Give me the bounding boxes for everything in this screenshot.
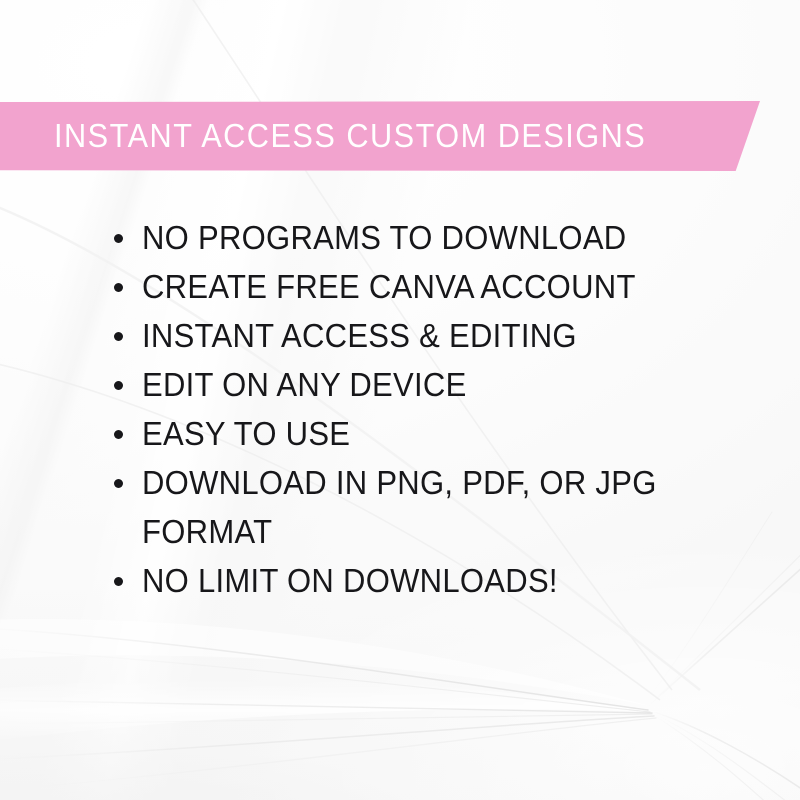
- list-item: CREATE FREE CANVA ACCOUNT: [112, 262, 732, 311]
- page-title: INSTANT ACCESS CUSTOM DESIGNS: [54, 119, 646, 154]
- bullet-dot-icon: [114, 381, 123, 390]
- list-item-label: INSTANT ACCESS & EDITING: [142, 311, 577, 360]
- list-item: NO PROGRAMS TO DOWNLOAD: [112, 213, 732, 262]
- list-item-label: DOWNLOAD IN PNG, PDF, OR JPG FORMAT: [142, 458, 697, 556]
- list-item: EASY TO USE: [112, 409, 732, 458]
- list-item: EDIT ON ANY DEVICE: [112, 360, 732, 409]
- list-item-label: NO PROGRAMS TO DOWNLOAD: [142, 213, 626, 262]
- header-banner: INSTANT ACCESS CUSTOM DESIGNS: [0, 101, 760, 171]
- bullet-dot-icon: [114, 577, 123, 586]
- list-item-label: CREATE FREE CANVA ACCOUNT: [142, 262, 636, 311]
- bullet-dot-icon: [114, 479, 123, 488]
- list-item-label: NO LIMIT ON DOWNLOADS!: [142, 556, 558, 605]
- list-item-label: EASY TO USE: [142, 409, 350, 458]
- feature-list: NO PROGRAMS TO DOWNLOAD CREATE FREE CANV…: [112, 213, 732, 605]
- graphic-canvas: INSTANT ACCESS CUSTOM DESIGNS NO PROGRAM…: [0, 0, 800, 800]
- list-item-label: EDIT ON ANY DEVICE: [142, 360, 467, 409]
- list-item: DOWNLOAD IN PNG, PDF, OR JPG FORMAT: [112, 458, 732, 556]
- list-item: INSTANT ACCESS & EDITING: [112, 311, 732, 360]
- bullet-dot-icon: [114, 283, 123, 292]
- bullet-dot-icon: [114, 332, 123, 341]
- list-item: NO LIMIT ON DOWNLOADS!: [112, 556, 732, 605]
- bullet-dot-icon: [114, 234, 123, 243]
- bullet-dot-icon: [114, 430, 123, 439]
